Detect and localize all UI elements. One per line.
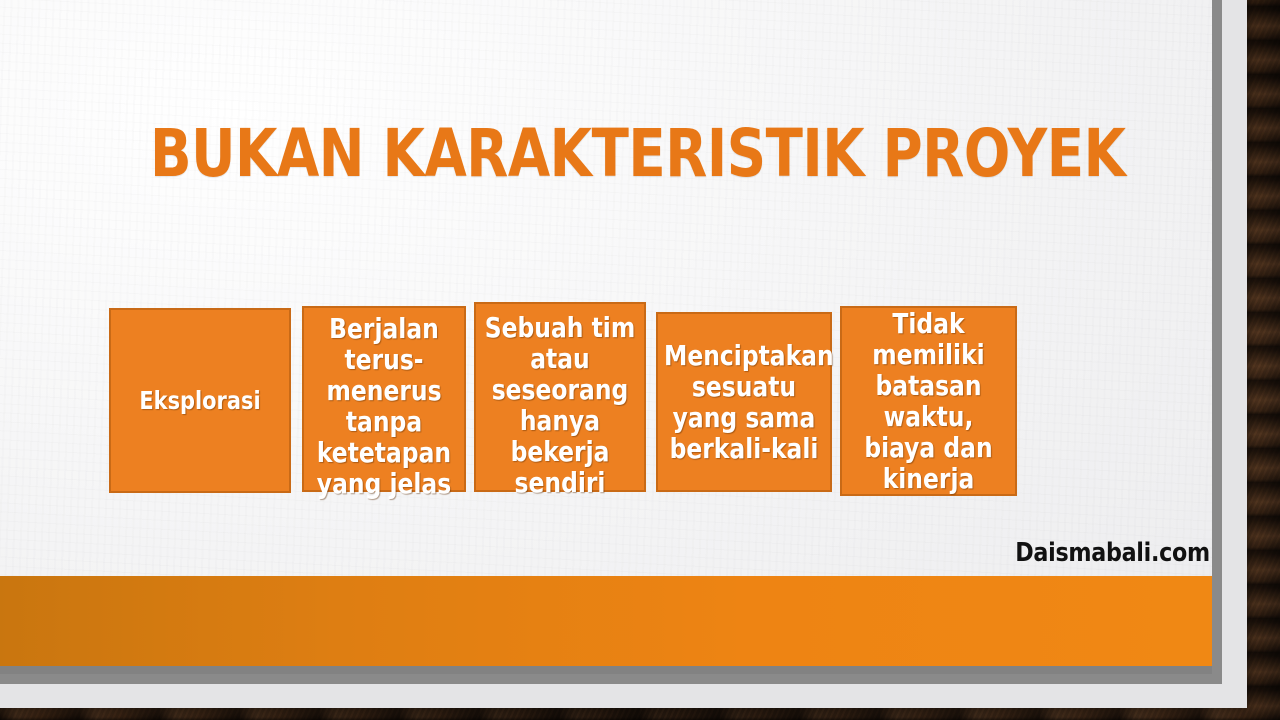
characteristics-box-row: Eksplorasi Berjalan terus-menerus tanpa … <box>0 0 1212 674</box>
box-sebuah-tim-atau-seseorang[interactable]: Sebuah tim atau seseorang hanya bekerja … <box>474 302 646 492</box>
box-berjalan-terus-menerus[interactable]: Berjalan terus-menerus tanpa ketetapan y… <box>302 306 466 492</box>
box-menciptakan-sesuatu-sama[interactable]: Menciptakan sesuatu yang sama berkali-ka… <box>656 312 832 492</box>
box-label: Eksplorasi <box>117 386 283 416</box>
box-tidak-memiliki-batasan[interactable]: Tidak memiliki batasan waktu, biaya dan … <box>840 306 1017 496</box>
footer-gray-rule <box>0 666 1212 674</box>
slide-gray-frame: BUKAN KARAKTERISTIK PROYEK Eksplorasi Be… <box>0 0 1222 684</box>
box-label: Berjalan terus-menerus tanpa ketetapan y… <box>310 313 459 499</box>
box-label: Sebuah tim atau seseorang hanya bekerja … <box>482 312 638 498</box>
slide-canvas: BUKAN KARAKTERISTIK PROYEK Eksplorasi Be… <box>0 0 1212 674</box>
footer-orange-band <box>0 576 1212 666</box>
box-label: Tidak memiliki batasan waktu, biaya dan … <box>848 308 1009 494</box>
watermark-text: Daismabali.com <box>1015 538 1210 568</box>
slide-outer-shadow: BUKAN KARAKTERISTIK PROYEK Eksplorasi Be… <box>0 0 1247 708</box>
box-label: Menciptakan sesuatu yang sama berkali-ka… <box>664 340 824 464</box>
box-eksplorasi[interactable]: Eksplorasi <box>109 308 291 493</box>
slide-stage: BUKAN KARAKTERISTIK PROYEK Eksplorasi Be… <box>0 0 1280 720</box>
